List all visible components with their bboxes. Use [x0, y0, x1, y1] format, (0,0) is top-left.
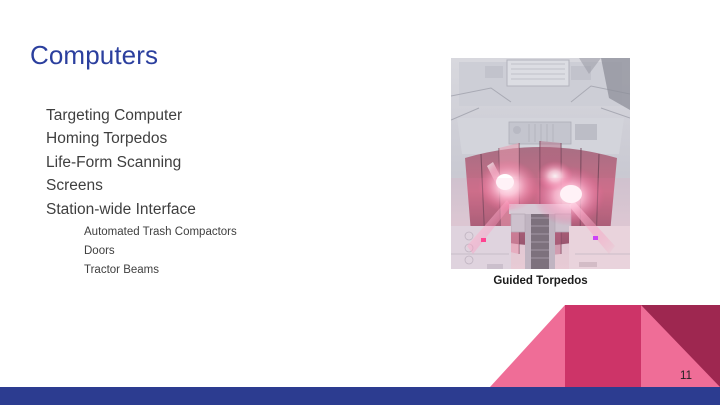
deco-triangle-left — [490, 305, 565, 387]
list-item: Station-wide Interface — [46, 198, 376, 221]
slide-picture — [451, 58, 630, 269]
bullet-list: Targeting Computer Homing Torpedos Life-… — [46, 104, 376, 279]
footer-bar — [0, 387, 720, 405]
page-title: Computers — [30, 40, 158, 71]
list-item: Homing Torpedos — [46, 127, 376, 150]
deco-rect-middle — [565, 305, 641, 387]
sub-list-item: Doors — [84, 242, 376, 261]
sub-bullet-list: Automated Trash Compactors Doors Tractor… — [46, 223, 376, 279]
list-item: Life-Form Scanning — [46, 151, 376, 174]
picture-caption: Guided Torpedos — [451, 275, 630, 287]
list-item: Screens — [46, 174, 376, 197]
sub-list-item: Automated Trash Compactors — [84, 223, 376, 242]
page-number: 11 — [680, 370, 692, 382]
list-item: Targeting Computer — [46, 104, 376, 127]
sub-list-item: Tractor Beams — [84, 261, 376, 280]
death-star-superlaser-image — [451, 58, 630, 269]
slide-canvas: Computers Targeting Computer Homing Torp… — [0, 0, 720, 405]
